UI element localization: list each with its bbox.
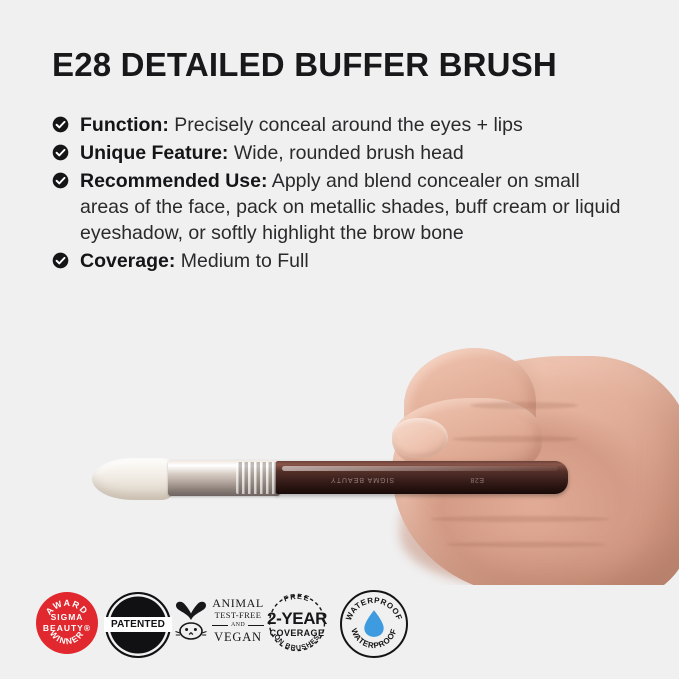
page-title: E28 DETAILED BUFFER BRUSH <box>52 46 557 84</box>
coverage-line-2: COVERAGE <box>262 628 332 639</box>
vegan-line-4: VEGAN <box>212 630 264 644</box>
ferrule-rings <box>236 462 280 494</box>
list-item-label: Function: <box>80 114 169 136</box>
patented-band: PATENTED <box>104 617 172 632</box>
product-info-card: E28 DETAILED BUFFER BRUSH Function: Prec… <box>0 0 679 679</box>
vegan-line-3: AND <box>212 621 264 630</box>
award-winner-badge: AWARD WINNER SIGMA BEAUTY® <box>36 592 98 654</box>
award-core-text: SIGMA BEAUTY® <box>36 612 98 633</box>
knuckle-crease <box>470 402 578 409</box>
certification-badges: AWARD WINNER SIGMA BEAUTY® PATENTED <box>0 588 679 668</box>
feature-list: Function: Precisely conceal around the e… <box>52 112 632 276</box>
check-circle-icon <box>52 116 69 133</box>
waterproof-circle: WATERPROOF WATERPROOF <box>340 590 408 658</box>
palm-crease <box>446 542 606 547</box>
animal-test-free-vegan-badge: ANIMAL TEST-FREE AND VEGAN <box>174 596 264 648</box>
list-item-label: Coverage: <box>80 250 175 272</box>
check-circle-icon <box>52 144 69 161</box>
two-year-coverage-badge: FREE ON BRUSHES 2-YEAR COVERAGE <box>262 590 332 656</box>
coverage-line-1: 2-YEAR <box>262 610 332 628</box>
coverage-core-text: 2-YEAR COVERAGE <box>262 610 332 639</box>
patented-label: PATENTED <box>111 619 165 630</box>
patented-circle: PATENTED <box>105 592 171 658</box>
list-item: Function: Precisely conceal around the e… <box>52 112 632 138</box>
patented-badge: PATENTED <box>105 592 167 654</box>
list-item-text: Wide, rounded brush head <box>228 142 463 164</box>
list-item: Unique Feature: Wide, rounded brush head <box>52 140 632 166</box>
vegan-text-block: ANIMAL TEST-FREE AND VEGAN <box>212 597 264 644</box>
handle-brand-text: SIGMA BEAUTY <box>330 476 394 483</box>
water-droplet-icon <box>364 609 385 637</box>
svg-text:FREE: FREE <box>283 592 312 604</box>
fingernail <box>392 418 448 458</box>
handle-code-text: E28 <box>470 476 484 483</box>
list-item-label: Unique Feature: <box>80 142 228 164</box>
product-photo: SIGMA BEAUTY E28 <box>0 340 679 585</box>
award-line-1: SIGMA <box>36 612 98 623</box>
award-circle: AWARD WINNER SIGMA BEAUTY® <box>36 592 98 654</box>
check-circle-icon <box>52 172 69 189</box>
palm-crease <box>430 516 610 522</box>
brush-head <box>92 458 178 500</box>
handle-gloss <box>282 466 558 471</box>
vegan-line-2: TEST-FREE <box>212 610 264 621</box>
knuckle-crease <box>452 436 578 442</box>
list-item: Coverage: Medium to Full <box>52 248 632 274</box>
list-item: Recommended Use: Apply and blend conceal… <box>52 168 632 246</box>
vegan-line-1: ANIMAL <box>212 597 264 610</box>
award-line-2: BEAUTY® <box>36 623 98 634</box>
list-item-label: Recommended Use: <box>80 170 267 192</box>
check-circle-icon <box>52 252 69 269</box>
list-item-text: Medium to Full <box>175 250 308 272</box>
waterproof-badge: WATERPROOF WATERPROOF <box>340 590 408 658</box>
list-item-text: Precisely conceal around the eyes + lips <box>169 114 523 136</box>
bunny-heart-icon <box>174 600 208 642</box>
